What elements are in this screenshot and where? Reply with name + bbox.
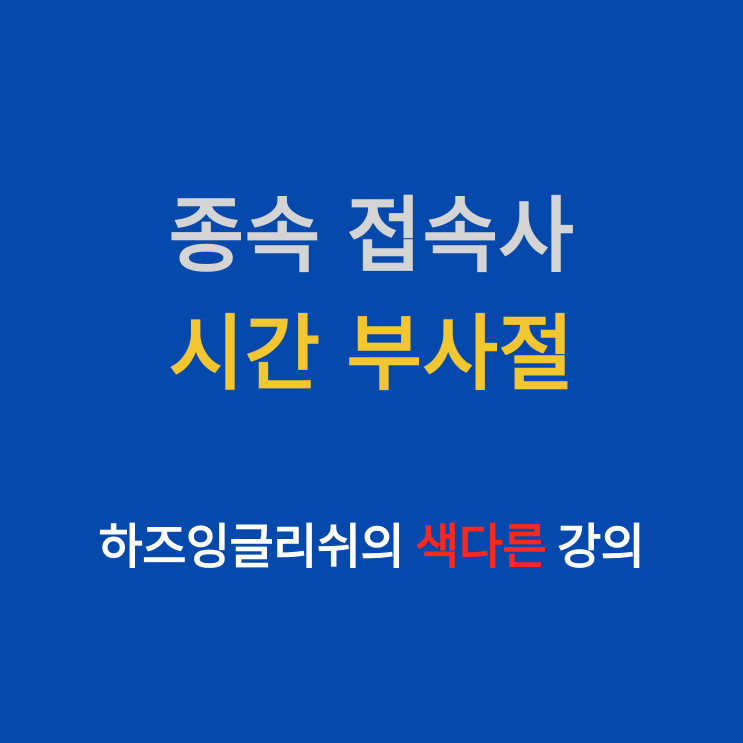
title-line-2: 시간부사절 [0, 296, 743, 414]
title-line-1: 종속접속사 [0, 178, 743, 296]
title-line-1-word-2: 접속사 [347, 191, 575, 282]
title-line-2-word-2: 부사절 [347, 309, 575, 400]
tagline-accent: 색다른 [415, 521, 546, 574]
tagline-prefix: 하즈잉글리쉬의 [99, 521, 405, 574]
tagline-suffix: 강의 [557, 521, 644, 574]
title-line-2-word-1: 시간 [169, 309, 321, 400]
poster-canvas: 종속접속사 시간부사절 하즈잉글리쉬의색다른강의 [0, 0, 743, 743]
tagline: 하즈잉글리쉬의색다른강의 [0, 519, 743, 577]
title-line-1-word-1: 종속 [169, 191, 321, 282]
title-block: 종속접속사 시간부사절 [0, 178, 743, 414]
